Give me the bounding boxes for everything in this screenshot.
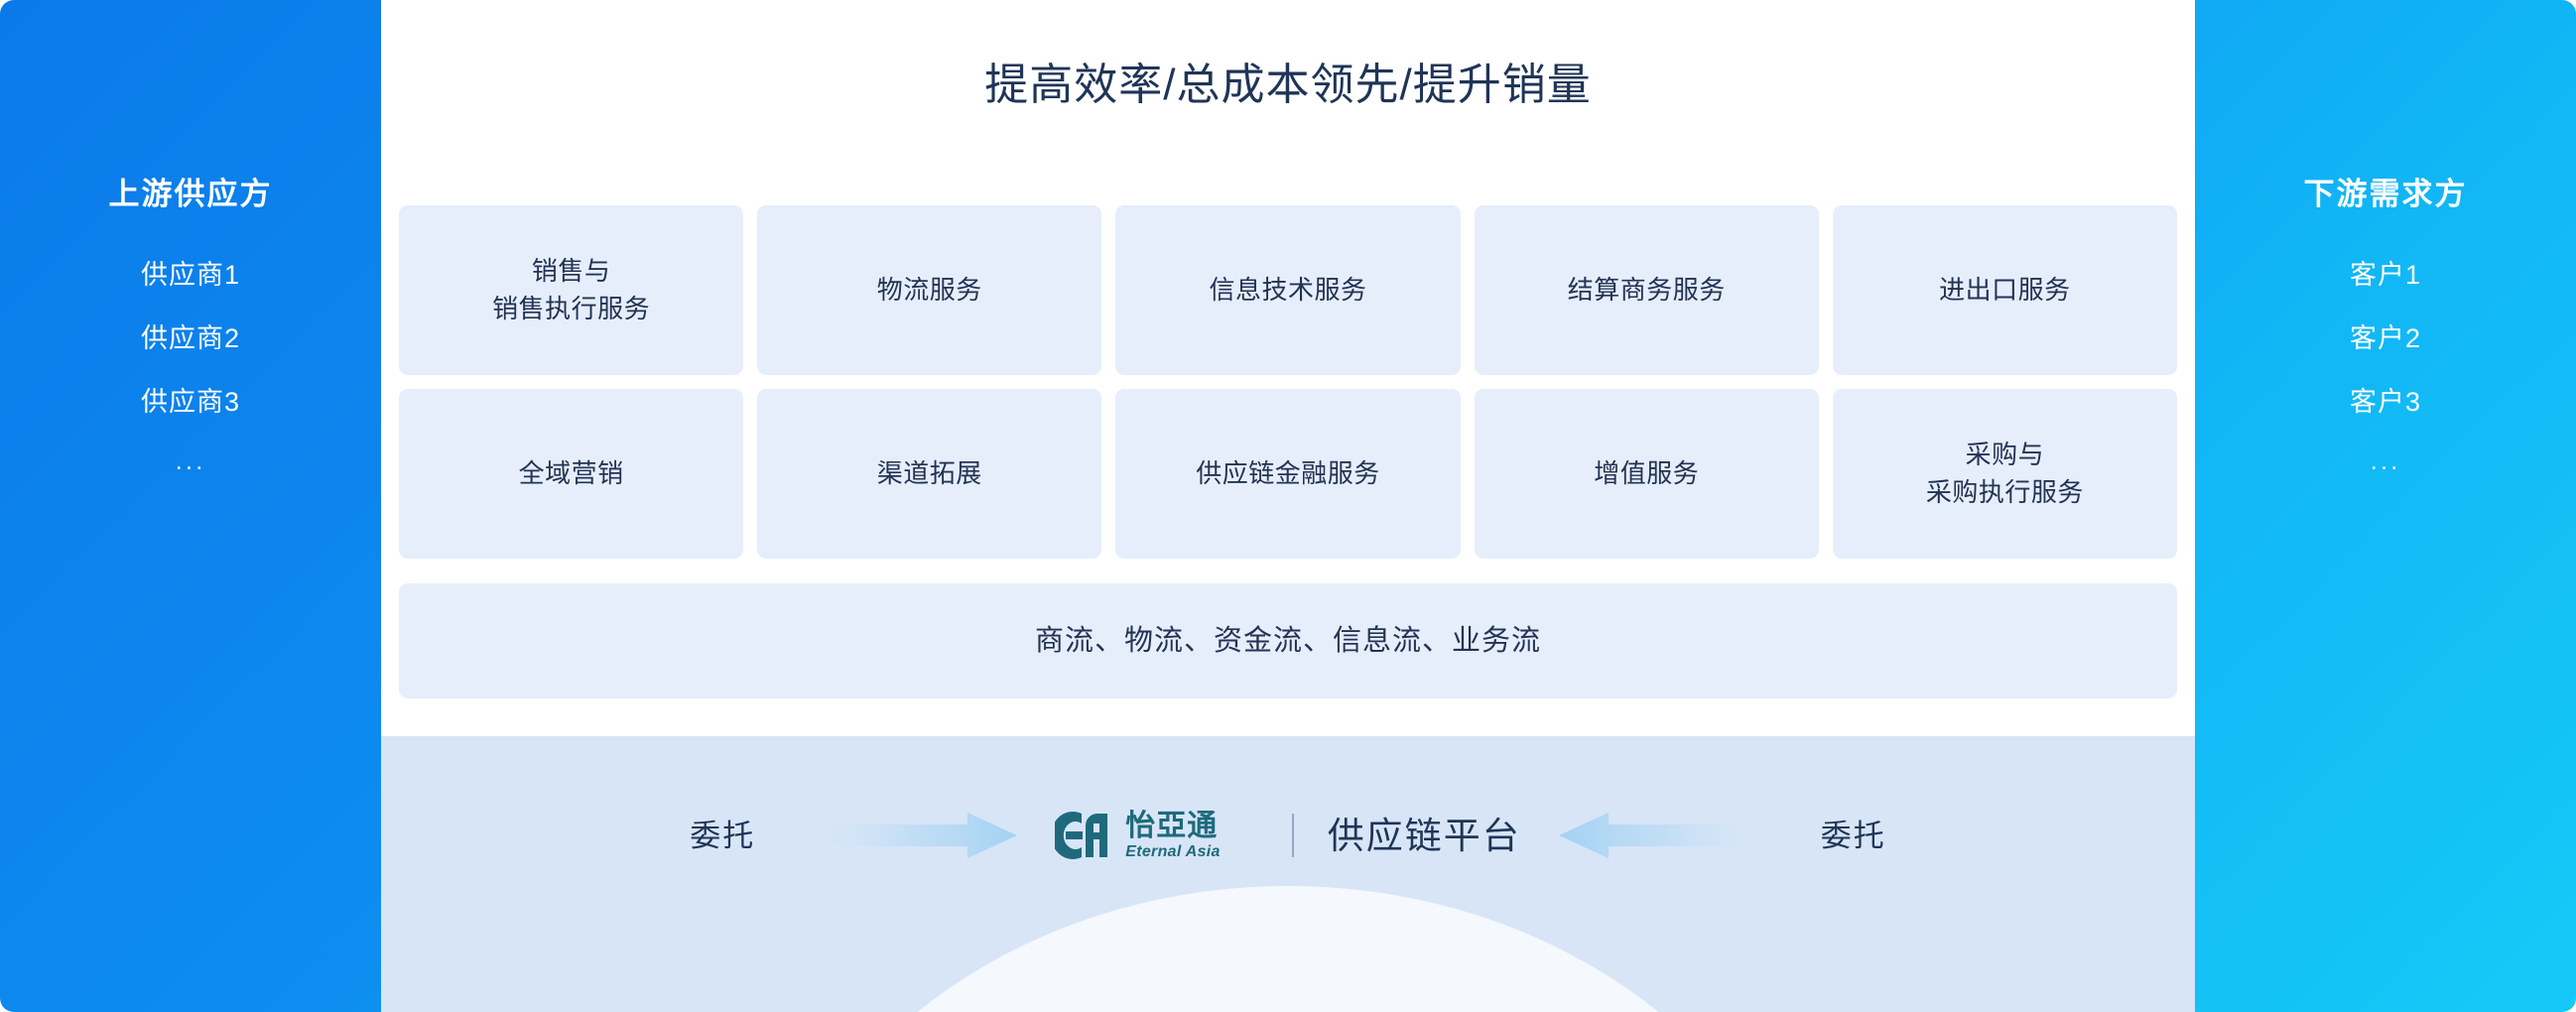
infographic-root: 上游供应方 供应商1 供应商2 供应商3 ... 下游需求方 客户1 客户2 客… bbox=[0, 0, 2576, 1012]
arrow-right-icon bbox=[819, 811, 1017, 860]
service-card[interactable]: 结算商务服务 bbox=[1475, 205, 1819, 375]
center-panel: 提高效率/总成本领先/提升销量 销售与 销售执行服务 物流服务 信息技术服务 结… bbox=[381, 0, 2195, 1012]
logo-english-name: Eternal Asia bbox=[1125, 844, 1221, 860]
service-card[interactable]: 采购与 采购执行服务 bbox=[1833, 389, 2177, 559]
service-card[interactable]: 渠道拓展 bbox=[757, 389, 1101, 559]
logo-wordmark: 怡亞通 Eternal Asia bbox=[1125, 811, 1221, 861]
service-card-row-1: 销售与 销售执行服务 物流服务 信息技术服务 结算商务服务 进出口服务 bbox=[399, 205, 2177, 375]
service-card[interactable]: 增值服务 bbox=[1475, 389, 1819, 559]
service-card-row-2: 全域营销 渠道拓展 供应链金融服务 增值服务 采购与 采购执行服务 bbox=[399, 389, 2177, 559]
upstream-more-ellipsis: ... bbox=[176, 447, 206, 473]
downstream-more-ellipsis: ... bbox=[2371, 447, 2401, 473]
entrust-label-right: 委托 bbox=[1779, 821, 1928, 851]
upstream-supplier-list: 供应商1 供应商2 供应商3 bbox=[141, 262, 240, 416]
page-title: 提高效率/总成本领先/提升销量 bbox=[381, 63, 2195, 107]
service-card[interactable]: 进出口服务 bbox=[1833, 205, 2177, 375]
vertical-divider bbox=[1292, 814, 1294, 857]
arrow-left-icon bbox=[1559, 811, 1757, 860]
platform-name-label: 供应链平台 bbox=[1328, 818, 1521, 854]
downstream-customer-panel: 下游需求方 客户1 客户2 客户3 ... bbox=[2195, 0, 2576, 1012]
downstream-panel-title: 下游需求方 bbox=[2304, 179, 2468, 209]
downstream-customer-list: 客户1 客户2 客户3 bbox=[2350, 262, 2421, 416]
service-card[interactable]: 物流服务 bbox=[757, 205, 1101, 375]
list-item: 供应商3 bbox=[141, 389, 240, 416]
platform-band: 委托 bbox=[381, 736, 2195, 1012]
service-card-grid: 销售与 销售执行服务 物流服务 信息技术服务 结算商务服务 进出口服务 全域营销… bbox=[399, 205, 2177, 559]
service-card[interactable]: 销售与 销售执行服务 bbox=[399, 205, 743, 375]
list-item: 供应商2 bbox=[141, 325, 240, 352]
service-card[interactable]: 供应链金融服务 bbox=[1115, 389, 1460, 559]
list-item: 客户1 bbox=[2350, 262, 2421, 289]
entrust-label-left: 委托 bbox=[648, 821, 797, 851]
list-item: 供应商1 bbox=[141, 262, 240, 289]
logo-chinese-name: 怡亞通 bbox=[1125, 811, 1221, 842]
upstream-panel-title: 上游供应方 bbox=[109, 179, 273, 209]
platform-band-row: 委托 bbox=[381, 736, 2195, 935]
list-item: 客户2 bbox=[2350, 325, 2421, 352]
list-item: 客户3 bbox=[2350, 389, 2421, 416]
service-card[interactable]: 信息技术服务 bbox=[1115, 205, 1460, 375]
flow-summary-bar: 商流、物流、资金流、信息流、业务流 bbox=[399, 583, 2177, 698]
ea-monogram-icon bbox=[1055, 810, 1112, 861]
upstream-supplier-panel: 上游供应方 供应商1 供应商2 供应商3 ... bbox=[0, 0, 381, 1012]
service-card[interactable]: 全域营销 bbox=[399, 389, 743, 559]
eternal-asia-logo: 怡亞通 Eternal Asia bbox=[1055, 810, 1221, 861]
